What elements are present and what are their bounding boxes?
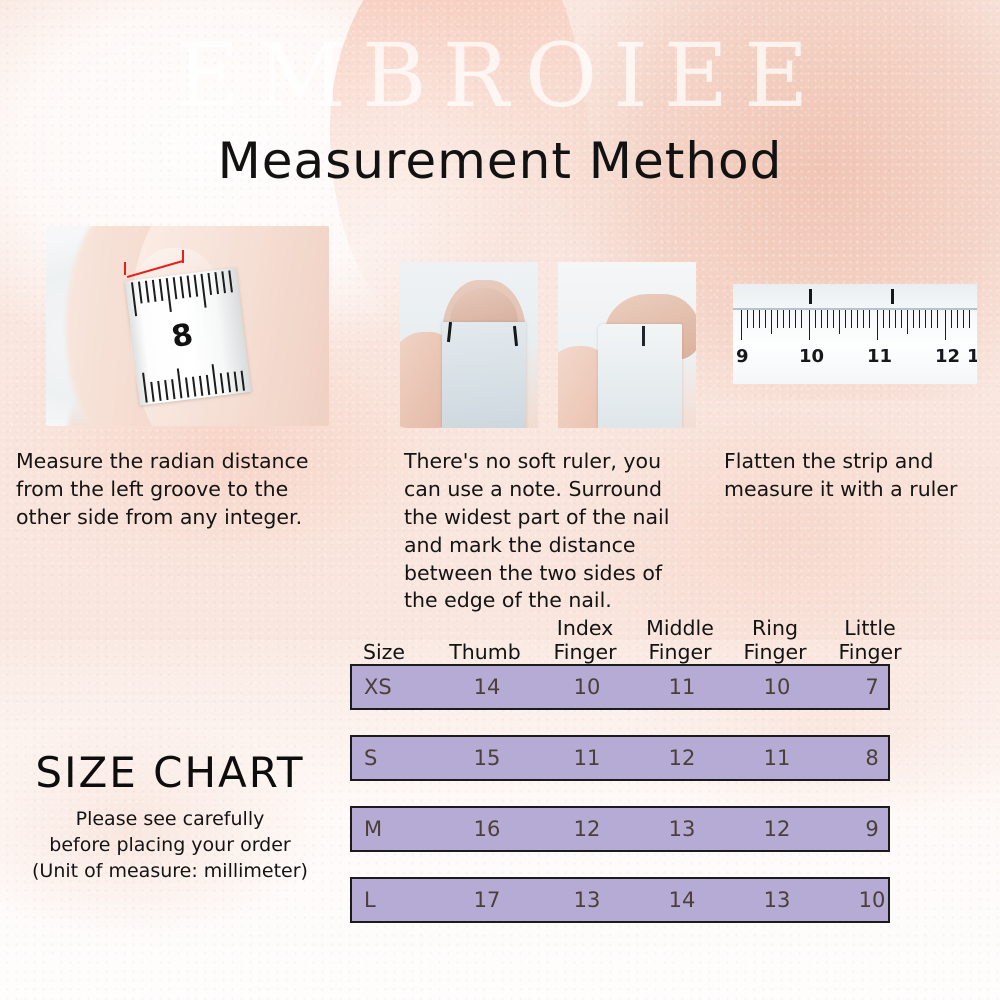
size-table-cell-value: 7 bbox=[822, 666, 922, 708]
size-table-cell-value: 13 bbox=[537, 879, 637, 921]
size-table-column-header: Thumb bbox=[435, 640, 535, 664]
ruler-label-12: 12 bbox=[935, 346, 960, 367]
step-1-description: Measure the radian distance from the lef… bbox=[16, 448, 382, 532]
ruler-pencil-mark-end bbox=[891, 289, 894, 304]
red-measure-cap-left bbox=[124, 262, 126, 275]
ruler-photo: 9 10 11 12 1 bbox=[733, 284, 977, 384]
size-table-cell-value: 15 bbox=[437, 737, 537, 779]
ruler-edge bbox=[733, 308, 977, 310]
size-table: SizeThumbIndex FingerMiddle FingerRing F… bbox=[330, 608, 892, 948]
size-table-cell-value: 10 bbox=[727, 666, 827, 708]
size-table-column-header: Ring Finger bbox=[725, 616, 825, 664]
size-table-cell-value: 13 bbox=[727, 879, 827, 921]
size-table-cell-value: 12 bbox=[537, 808, 637, 850]
paper-strip-front-photo bbox=[400, 262, 538, 428]
size-table-header-row: SizeThumbIndex FingerMiddle FingerRing F… bbox=[330, 608, 892, 664]
ruler-label-9: 9 bbox=[736, 346, 749, 367]
red-measure-cap-right bbox=[182, 250, 184, 263]
size-chart-note: Please see carefully before placing your… bbox=[0, 806, 340, 885]
size-table-column-header: Size bbox=[348, 640, 420, 664]
size-chart-poster: EMBROIEE Measurement Method bbox=[0, 0, 1000, 1000]
size-chart-heading: SIZE CHART bbox=[0, 752, 340, 794]
size-table-column-header: Little Finger bbox=[820, 616, 920, 664]
size-table-cell-size: S bbox=[350, 737, 436, 779]
size-table-cell-value: 8 bbox=[822, 737, 922, 779]
size-table-cell-value: 11 bbox=[632, 666, 732, 708]
step-2-description: There's no soft ruler, you can use a not… bbox=[404, 448, 734, 615]
size-table-column-header: Middle Finger bbox=[630, 616, 730, 664]
size-table-row: S151112118 bbox=[350, 735, 890, 781]
step-3-description: Flatten the strip and measure it with a … bbox=[724, 448, 992, 504]
ruler-pencil-mark-start bbox=[809, 289, 812, 304]
size-table-cell-size: M bbox=[350, 808, 436, 850]
paper-strip-shape bbox=[598, 324, 682, 428]
size-table-cell-value: 13 bbox=[632, 808, 732, 850]
size-table-cell-value: 9 bbox=[822, 808, 922, 850]
size-table-cell-size: XS bbox=[350, 666, 436, 708]
size-table-cell-value: 12 bbox=[632, 737, 732, 779]
page-title: Measurement Method bbox=[0, 136, 1000, 186]
size-table-cell-value: 10 bbox=[537, 666, 637, 708]
size-table-cell-value: 14 bbox=[437, 666, 537, 708]
finger-with-soft-tape-photo: 8 bbox=[46, 226, 329, 426]
brand-watermark: EMBROIEE bbox=[0, 32, 1000, 120]
mark-center bbox=[642, 326, 645, 346]
size-table-cell-value: 17 bbox=[437, 879, 537, 921]
ruler-label-11: 11 bbox=[867, 346, 892, 367]
size-table-row: XS141011107 bbox=[350, 664, 890, 710]
size-table-cell-value: 10 bbox=[822, 879, 922, 921]
size-table-cell-value: 12 bbox=[727, 808, 827, 850]
size-table-cell-value: 11 bbox=[727, 737, 827, 779]
size-table-cell-value: 14 bbox=[632, 879, 732, 921]
tape-number-label: 8 bbox=[169, 317, 196, 355]
ruler-label-10: 10 bbox=[799, 346, 824, 367]
size-table-cell-value: 11 bbox=[537, 737, 637, 779]
size-table-cell-value: 16 bbox=[437, 808, 537, 850]
size-table-column-header: Index Finger bbox=[535, 616, 635, 664]
size-table-cell-size: L bbox=[350, 879, 436, 921]
size-table-row: L1713141310 bbox=[350, 877, 890, 923]
ruler-label-13: 1 bbox=[967, 346, 977, 367]
size-table-body: XS141011107S151112118M161213129L17131413… bbox=[330, 664, 892, 923]
soft-measuring-tape: 8 bbox=[125, 268, 251, 406]
paper-strip-side-photo bbox=[558, 262, 696, 428]
size-table-row: M161213129 bbox=[350, 806, 890, 852]
